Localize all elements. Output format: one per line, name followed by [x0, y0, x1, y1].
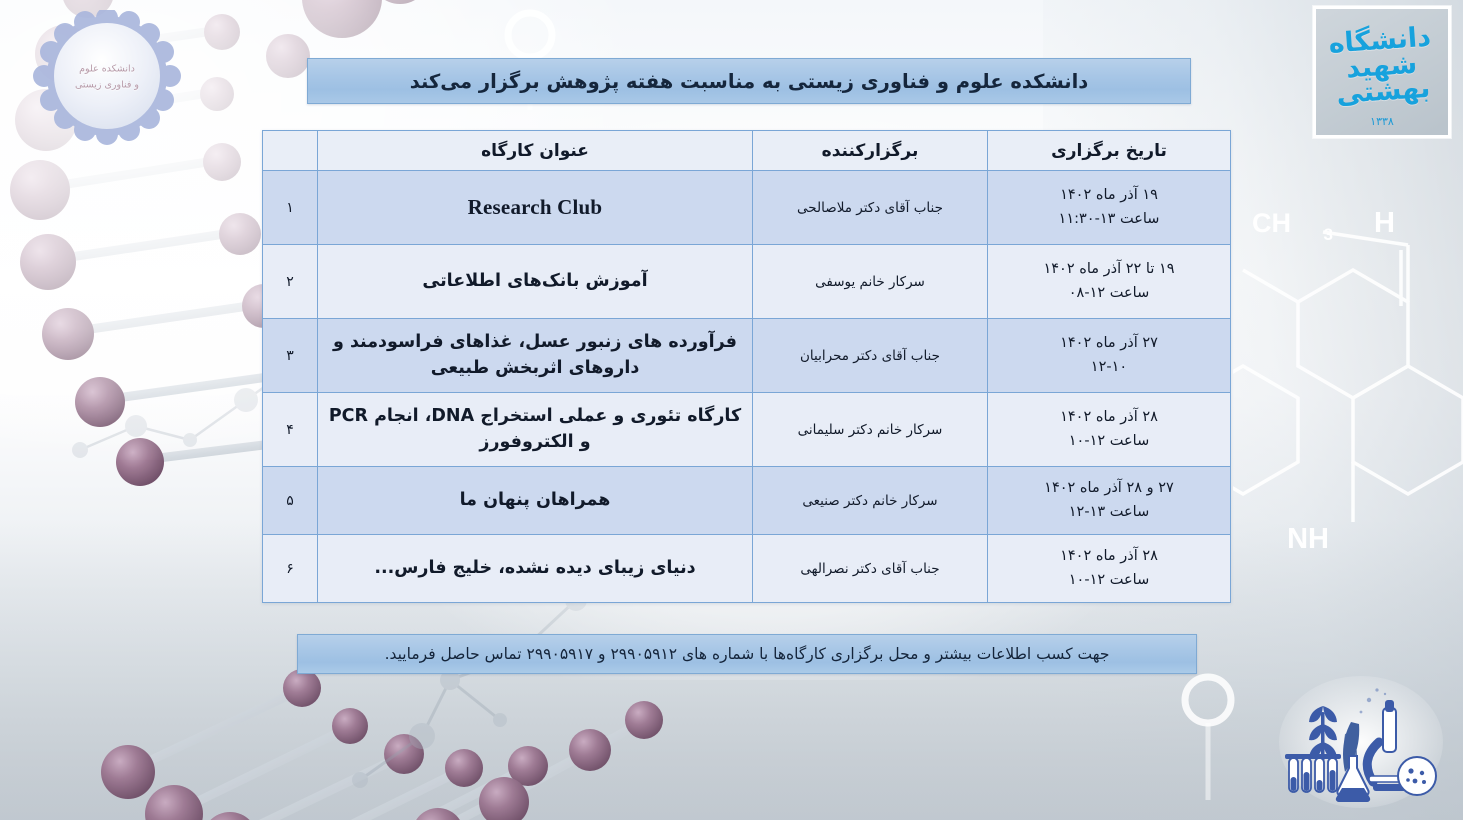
- cell-workshop-title: همراهان پنهان ما: [318, 467, 753, 535]
- poster-canvas: CH 3 H NH: [0, 0, 1463, 820]
- column-header-number: [263, 131, 318, 171]
- university-logo-name: دانشگاه شهید بهشتی: [1313, 23, 1451, 121]
- date-line-2: ساعت ۱۲-۰۸: [994, 282, 1224, 305]
- faculty-seal-logo: دانشکده علوم و فناوری زیستی: [18, 10, 196, 145]
- cell-date: ۲۸ آذر ماه ۱۴۰۲ ساعت ۱۲-۱۰: [988, 393, 1231, 467]
- cell-date: ۲۷ آذر ماه ۱۴۰۲ ۱۲-۱۰: [988, 319, 1231, 393]
- date-line-1: ۱۹ آذر ماه ۱۴۰۲: [994, 184, 1224, 207]
- cell-row-number: ۲: [263, 245, 318, 319]
- chem-label-ch3-subscript: 3: [1324, 225, 1333, 244]
- cell-organizer: سرکار خانم دکتر صنیعی: [753, 467, 988, 535]
- cell-organizer: جناب آقای دکتر نصرالهی: [753, 535, 988, 603]
- faculty-seal-label: دانشکده علوم و فناوری زیستی: [18, 61, 196, 94]
- contact-text: جهت کسب اطلاعات بیشتر و محل برگزاری کارگ…: [385, 645, 1110, 663]
- cell-workshop-title: فرآورده های زنبور عسل، غذاهای فراسودمند …: [318, 319, 753, 393]
- table-row: ۱۹ آذر ماه ۱۴۰۲ ساعت ۱۳-۱۱:۳۰ جناب آقای …: [263, 171, 1231, 245]
- biotech-illustration: [1277, 672, 1445, 812]
- cell-date: ۲۷ و ۲۸ آذر ماه ۱۴۰۲ ساعت ۱۳-۱۲: [988, 467, 1231, 535]
- date-line-2: ساعت ۱۲-۱۰: [994, 430, 1224, 453]
- cell-organizer: سرکار خانم یوسفی: [753, 245, 988, 319]
- cell-workshop-title: Research Club: [318, 171, 753, 245]
- table-head: تاریخ برگزاری برگزارکننده عنوان کارگاه: [263, 131, 1231, 171]
- chem-label-nh: NH: [1287, 523, 1329, 555]
- column-header-date: تاریخ برگزاری: [988, 131, 1231, 171]
- date-line-1: ۲۸ آذر ماه ۱۴۰۲: [994, 545, 1224, 568]
- table-row: ۲۸ آذر ماه ۱۴۰۲ ساعت ۱۲-۱۰ جناب آقای دکت…: [263, 535, 1231, 603]
- faculty-seal-line1: دانشکده علوم: [18, 61, 196, 78]
- cell-row-number: ۱: [263, 171, 318, 245]
- cell-row-number: ۴: [263, 393, 318, 467]
- chem-label-ch3: CH: [1252, 210, 1291, 238]
- table-body: ۱۹ آذر ماه ۱۴۰۲ ساعت ۱۳-۱۱:۳۰ جناب آقای …: [263, 171, 1231, 603]
- page-title: دانشکده علوم و فناوری زیستی به مناسبت هف…: [410, 70, 1089, 93]
- faculty-seal-line2: و فناوری زیستی: [18, 78, 196, 95]
- cell-date: ۱۹ تا ۲۲ آذر ماه ۱۴۰۲ ساعت ۱۲-۰۸: [988, 245, 1231, 319]
- date-line-2: ساعت ۱۲-۱۰: [994, 569, 1224, 592]
- table-row: ۲۷ آذر ماه ۱۴۰۲ ۱۲-۱۰ جناب آقای دکتر محر…: [263, 319, 1231, 393]
- cell-row-number: ۳: [263, 319, 318, 393]
- university-logo-inner: دانشگاه شهید بهشتی ۱۳۳۸: [1316, 9, 1448, 135]
- date-line-2: ساعت ۱۳-۱۱:۳۰: [994, 208, 1224, 231]
- cell-date: ۲۸ آذر ماه ۱۴۰۲ ساعت ۱۲-۱۰: [988, 535, 1231, 603]
- chem-label-h: H: [1374, 210, 1395, 239]
- cell-organizer: جناب آقای دکتر محرابیان: [753, 319, 988, 393]
- cell-organizer: سرکار خانم دکتر سلیمانی: [753, 393, 988, 467]
- table-row: ۲۷ و ۲۸ آذر ماه ۱۴۰۲ ساعت ۱۳-۱۲ سرکار خا…: [263, 467, 1231, 535]
- date-line-1: ۱۹ تا ۲۲ آذر ماه ۱۴۰۲: [994, 258, 1224, 281]
- table-header-row: تاریخ برگزاری برگزارکننده عنوان کارگاه: [263, 131, 1231, 171]
- workshop-schedule-table: تاریخ برگزاری برگزارکننده عنوان کارگاه ۱…: [262, 130, 1231, 603]
- contact-banner: جهت کسب اطلاعات بیشتر و محل برگزاری کارگ…: [297, 634, 1197, 674]
- cell-row-number: ۵: [263, 467, 318, 535]
- cell-date: ۱۹ آذر ماه ۱۴۰۲ ساعت ۱۳-۱۱:۳۰: [988, 171, 1231, 245]
- university-logo: دانشگاه شهید بهشتی ۱۳۳۸: [1313, 6, 1451, 138]
- chemical-structure-decor: CH 3 H NH: [1233, 210, 1463, 570]
- schedule-table-wrapper: تاریخ برگزاری برگزارکننده عنوان کارگاه ۱…: [263, 130, 1231, 603]
- cell-organizer: جناب آقای دکتر ملاصالحی: [753, 171, 988, 245]
- date-line-2: ساعت ۱۳-۱۲: [994, 501, 1224, 524]
- cell-row-number: ۶: [263, 535, 318, 603]
- column-header-organizer: برگزارکننده: [753, 131, 988, 171]
- table-row: ۲۸ آذر ماه ۱۴۰۲ ساعت ۱۲-۱۰ سرکار خانم دک…: [263, 393, 1231, 467]
- university-logo-founded-year: ۱۳۳۸: [1316, 115, 1448, 128]
- column-header-title: عنوان کارگاه: [318, 131, 753, 171]
- title-banner: دانشکده علوم و فناوری زیستی به مناسبت هف…: [307, 58, 1191, 104]
- ring-decor-bottom: [1150, 660, 1270, 800]
- date-line-1: ۲۷ آذر ماه ۱۴۰۲: [994, 332, 1224, 355]
- date-line-1: ۲۷ و ۲۸ آذر ماه ۱۴۰۲: [994, 477, 1224, 500]
- cell-workshop-title: کارگاه تئوری و عملی استخراج DNA، انجام P…: [318, 393, 753, 467]
- date-line-1: ۲۸ آذر ماه ۱۴۰۲: [994, 406, 1224, 429]
- cell-workshop-title: آموزش بانک‌های اطلاعاتی: [318, 245, 753, 319]
- cell-colony-icon: [1398, 757, 1436, 795]
- cell-workshop-title: دنیای زیبای دیده نشده، خلیج فارس...: [318, 535, 753, 603]
- table-row: ۱۹ تا ۲۲ آذر ماه ۱۴۰۲ ساعت ۱۲-۰۸ سرکار خ…: [263, 245, 1231, 319]
- date-line-2: ۱۲-۱۰: [994, 356, 1224, 379]
